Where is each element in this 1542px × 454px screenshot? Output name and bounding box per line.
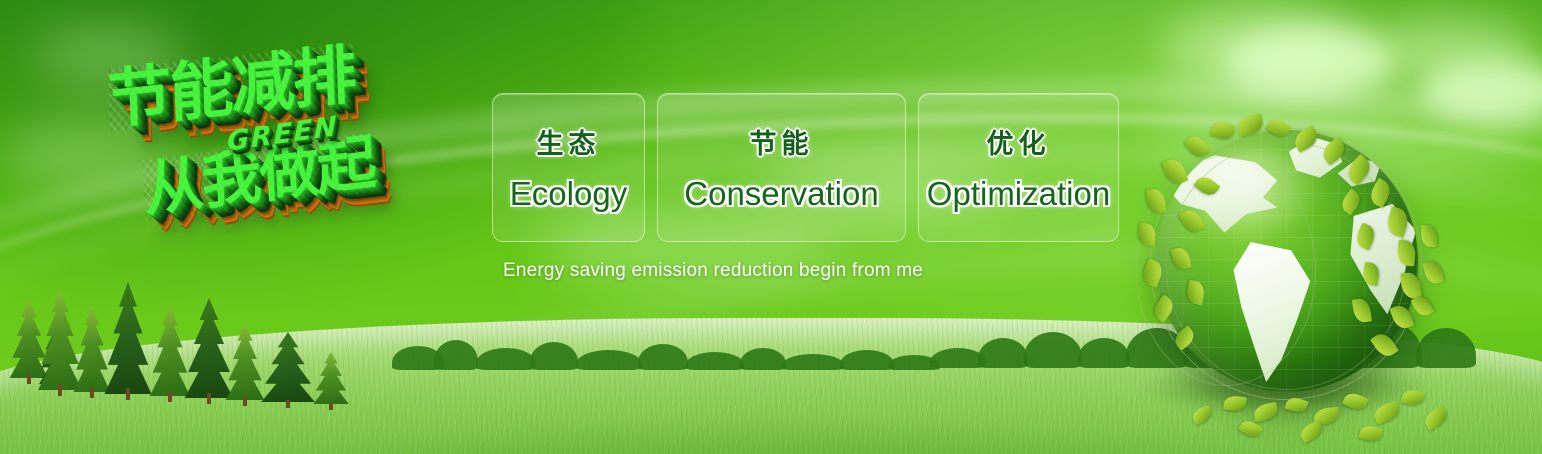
cloud-icon <box>1360 20 1540 84</box>
pine-tree-icon <box>310 354 352 410</box>
card-title-cn: 优化 <box>987 122 1051 161</box>
cloud-icon <box>1160 6 1370 92</box>
card-title-cn: 生态 <box>537 122 601 161</box>
banner-root: 节 能 减 排 从 我 做 起 GREEN 生态 Ecology 节能 Cons… <box>0 0 1542 454</box>
logo-glyph: 减 <box>230 50 294 121</box>
leaf-icon <box>1372 400 1402 424</box>
globe-highlight <box>1193 151 1329 245</box>
leaf-icon <box>1422 405 1451 431</box>
logo-glyph: 节 <box>107 63 171 134</box>
card-title-cn: 节能 <box>750 122 814 161</box>
leaf-icon <box>1223 395 1247 413</box>
logo-glyph: 能 <box>168 56 232 127</box>
leaf-icon <box>1190 405 1214 425</box>
card-ecology[interactable]: 生态 Ecology <box>492 93 645 242</box>
tagline-text: Energy saving emission reduction begin f… <box>503 260 923 282</box>
leaf-icon <box>1358 423 1383 443</box>
leaf-icon <box>1401 388 1426 407</box>
leaf-icon <box>1146 188 1166 214</box>
leaf-icon <box>1137 223 1156 247</box>
card-optimization[interactable]: 优化 Optimization <box>918 93 1119 242</box>
card-title-en: Conservation <box>684 175 878 213</box>
logo-glyph: 排 <box>292 43 356 114</box>
leaf-icon <box>1421 225 1438 248</box>
brand-logo-3d: 节 能 减 排 从 我 做 起 GREEN <box>97 31 492 279</box>
feature-card-list: 生态 Ecology 节能 Conservation 优化 Optimizati… <box>492 93 1119 242</box>
fallen-leaves <box>1128 370 1458 440</box>
ivy-globe <box>1128 112 1458 442</box>
leaf-icon <box>1284 395 1308 415</box>
leaf-icon <box>1253 402 1280 423</box>
card-title-en: Ecology <box>510 175 627 213</box>
leaf-icon <box>1422 259 1444 285</box>
leaf-icon <box>1411 293 1435 319</box>
card-conservation[interactable]: 节能 Conservation <box>657 93 906 242</box>
leaf-icon <box>1210 118 1237 142</box>
card-title-en: Optimization <box>927 175 1110 213</box>
logo-glyph: 从 <box>143 154 204 221</box>
leaf-icon <box>1342 390 1369 413</box>
cloud-icon <box>1225 28 1395 98</box>
globe-sphere <box>1156 130 1418 392</box>
